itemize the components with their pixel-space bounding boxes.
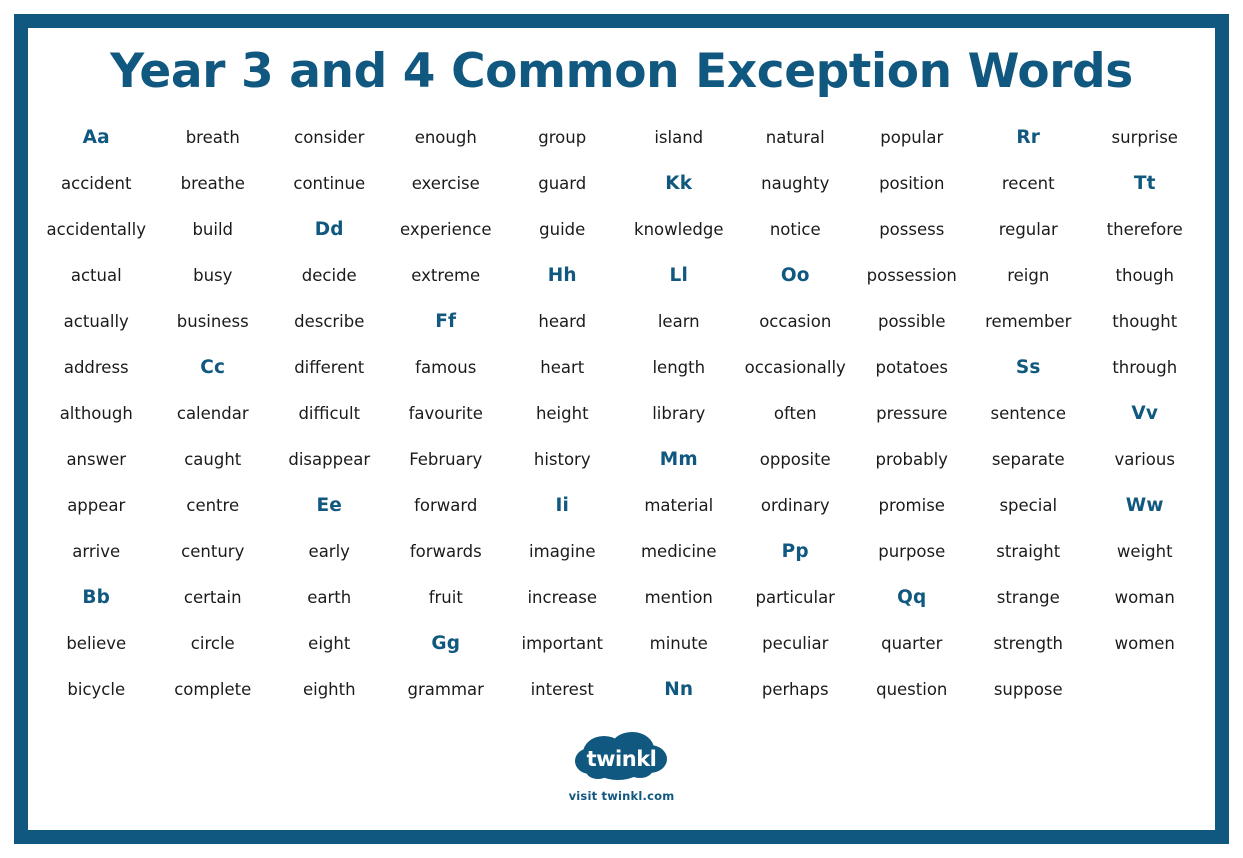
letter-heading[interactable]: Ee — [271, 483, 388, 529]
word-item[interactable]: medicine — [621, 529, 738, 575]
word-item[interactable]: describe — [271, 299, 388, 345]
letter-heading[interactable]: Pp — [737, 529, 854, 575]
word-column-5: groupguardguideHhheardheartheighthistory… — [504, 115, 621, 713]
word-item[interactable]: consider — [271, 115, 388, 161]
word-item[interactable]: straight — [970, 529, 1087, 575]
word-item[interactable]: imagine — [504, 529, 621, 575]
word-column-2: breathbreathebuildbusybusinessCccalendar… — [155, 115, 272, 713]
word-item[interactable]: various — [1087, 437, 1204, 483]
word-item[interactable]: purpose — [854, 529, 971, 575]
word-column-7: naturalnaughtynoticeOooccasionoccasional… — [737, 115, 854, 713]
word-item[interactable]: calendar — [155, 391, 272, 437]
word-item[interactable]: natural — [737, 115, 854, 161]
letter-heading[interactable]: Vv — [1087, 391, 1204, 437]
word-column-8: popularpositionpossesspossessionpossible… — [854, 115, 971, 713]
letter-heading[interactable]: Ww — [1087, 483, 1204, 529]
word-item[interactable]: breath — [155, 115, 272, 161]
word-item[interactable]: heard — [504, 299, 621, 345]
word-item[interactable]: recent — [970, 161, 1087, 207]
word-item[interactable]: possible — [854, 299, 971, 345]
word-item[interactable]: opposite — [737, 437, 854, 483]
word-item[interactable]: pressure — [854, 391, 971, 437]
word-item[interactable]: women — [1087, 621, 1204, 667]
page-title: Year 3 and 4 Common Exception Words — [30, 48, 1213, 95]
word-item[interactable]: caught — [155, 437, 272, 483]
word-item[interactable]: perhaps — [737, 667, 854, 713]
letter-heading[interactable]: Qq — [854, 575, 971, 621]
word-item[interactable]: February — [388, 437, 505, 483]
word-item[interactable]: believe — [38, 621, 155, 667]
word-item[interactable]: extreme — [388, 253, 505, 299]
word-item[interactable]: strength — [970, 621, 1087, 667]
word-item[interactable]: history — [504, 437, 621, 483]
letter-heading[interactable]: Cc — [155, 345, 272, 391]
word-item[interactable]: question — [854, 667, 971, 713]
word-item[interactable]: strange — [970, 575, 1087, 621]
word-item[interactable]: grammar — [388, 667, 505, 713]
letter-heading[interactable]: Mm — [621, 437, 738, 483]
word-column-4: enoughexerciseexperienceextremeFffamousf… — [388, 115, 505, 713]
letter-heading[interactable]: Tt — [1087, 161, 1204, 207]
letter-heading[interactable]: Nn — [621, 667, 738, 713]
letter-heading[interactable]: Aa — [38, 115, 155, 161]
word-item[interactable]: heart — [504, 345, 621, 391]
word-item[interactable]: different — [271, 345, 388, 391]
letter-heading[interactable]: Kk — [621, 161, 738, 207]
letter-heading[interactable]: Dd — [271, 207, 388, 253]
word-item[interactable]: weight — [1087, 529, 1204, 575]
word-item[interactable]: busy — [155, 253, 272, 299]
word-item[interactable]: fruit — [388, 575, 505, 621]
word-column-3: considercontinueDddecidedescribedifferen… — [271, 115, 388, 713]
word-item[interactable]: actually — [38, 299, 155, 345]
word-item[interactable]: disappear — [271, 437, 388, 483]
word-item[interactable]: early — [271, 529, 388, 575]
word-item[interactable]: possess — [854, 207, 971, 253]
word-item[interactable]: address — [38, 345, 155, 391]
word-item[interactable]: sentence — [970, 391, 1087, 437]
word-item[interactable]: appear — [38, 483, 155, 529]
word-item[interactable]: increase — [504, 575, 621, 621]
word-item[interactable]: popular — [854, 115, 971, 161]
word-item[interactable]: build — [155, 207, 272, 253]
word-item[interactable]: group — [504, 115, 621, 161]
word-item[interactable]: although — [38, 391, 155, 437]
word-item[interactable]: accident — [38, 161, 155, 207]
visit-url-text: visit twinkl.com — [569, 789, 675, 803]
word-item[interactable]: continue — [271, 161, 388, 207]
word-item[interactable]: surprise — [1087, 115, 1204, 161]
word-item[interactable]: occasion — [737, 299, 854, 345]
word-item[interactable]: certain — [155, 575, 272, 621]
word-item[interactable]: difficult — [271, 391, 388, 437]
letter-heading[interactable]: Hh — [504, 253, 621, 299]
word-item[interactable]: particular — [737, 575, 854, 621]
twinkl-logo[interactable]: twinkl — [574, 731, 670, 783]
word-item[interactable]: regular — [970, 207, 1087, 253]
word-item[interactable]: mention — [621, 575, 738, 621]
word-item[interactable]: though — [1087, 253, 1204, 299]
word-column-9: RrrecentregularreignrememberSssentencese… — [970, 115, 1087, 713]
letter-heading[interactable]: Ff — [388, 299, 505, 345]
word-item[interactable]: length — [621, 345, 738, 391]
word-item[interactable]: position — [854, 161, 971, 207]
footer: twinkl visit twinkl.com — [30, 731, 1213, 803]
word-item[interactable]: ordinary — [737, 483, 854, 529]
word-item[interactable]: potatoes — [854, 345, 971, 391]
word-item[interactable]: minute — [621, 621, 738, 667]
word-item[interactable]: century — [155, 529, 272, 575]
word-item[interactable]: important — [504, 621, 621, 667]
letter-heading[interactable]: Ii — [504, 483, 621, 529]
word-item[interactable]: material — [621, 483, 738, 529]
word-item[interactable]: notice — [737, 207, 854, 253]
word-item[interactable]: separate — [970, 437, 1087, 483]
word-item[interactable]: decide — [271, 253, 388, 299]
word-mat-poster: Year 3 and 4 Common Exception Words Aaac… — [0, 0, 1243, 858]
word-item[interactable]: famous — [388, 345, 505, 391]
word-item[interactable]: suppose — [970, 667, 1087, 713]
word-item[interactable]: answer — [38, 437, 155, 483]
word-item[interactable]: probably — [854, 437, 971, 483]
word-item[interactable]: enough — [388, 115, 505, 161]
word-column-1: Aaaccidentaccidentallyactualactuallyaddr… — [38, 115, 155, 713]
word-item[interactable]: occasionally — [737, 345, 854, 391]
word-item[interactable]: experience — [388, 207, 505, 253]
word-item[interactable]: circle — [155, 621, 272, 667]
word-item[interactable]: through — [1087, 345, 1204, 391]
word-item[interactable]: exercise — [388, 161, 505, 207]
letter-heading[interactable]: Ll — [621, 253, 738, 299]
word-item[interactable]: often — [737, 391, 854, 437]
word-item[interactable]: height — [504, 391, 621, 437]
word-column-6: islandKkknowledgeLllearnlengthlibraryMmm… — [621, 115, 738, 713]
word-item[interactable]: peculiar — [737, 621, 854, 667]
word-grid: Aaaccidentaccidentallyactualactuallyaddr… — [30, 115, 1213, 713]
word-item[interactable]: island — [621, 115, 738, 161]
word-item[interactable]: earth — [271, 575, 388, 621]
word-item[interactable]: library — [621, 391, 738, 437]
word-item[interactable]: actual — [38, 253, 155, 299]
word-column-10: surpriseTtthereforethoughthoughtthroughV… — [1087, 115, 1204, 713]
word-item[interactable]: accidentally — [38, 207, 155, 253]
letter-heading[interactable]: Ss — [970, 345, 1087, 391]
word-item[interactable]: possession — [854, 253, 971, 299]
word-item[interactable]: guide — [504, 207, 621, 253]
word-item[interactable]: special — [970, 483, 1087, 529]
word-item[interactable]: naughty — [737, 161, 854, 207]
letter-heading[interactable]: Rr — [970, 115, 1087, 161]
letter-heading[interactable]: Gg — [388, 621, 505, 667]
word-item[interactable]: eight — [271, 621, 388, 667]
empty-cell — [1087, 667, 1204, 713]
word-item[interactable]: reign — [970, 253, 1087, 299]
word-item[interactable]: arrive — [38, 529, 155, 575]
letter-heading[interactable]: Bb — [38, 575, 155, 621]
word-item[interactable]: interest — [504, 667, 621, 713]
word-item[interactable]: remember — [970, 299, 1087, 345]
word-item[interactable]: thought — [1087, 299, 1204, 345]
word-item[interactable]: promise — [854, 483, 971, 529]
word-item[interactable]: forward — [388, 483, 505, 529]
word-item[interactable]: learn — [621, 299, 738, 345]
word-item[interactable]: breathe — [155, 161, 272, 207]
letter-heading[interactable]: Oo — [737, 253, 854, 299]
word-item[interactable]: complete — [155, 667, 272, 713]
word-item[interactable]: favourite — [388, 391, 505, 437]
word-item[interactable]: business — [155, 299, 272, 345]
word-item[interactable]: guard — [504, 161, 621, 207]
word-item[interactable]: quarter — [854, 621, 971, 667]
word-item[interactable]: woman — [1087, 575, 1204, 621]
word-item[interactable]: therefore — [1087, 207, 1204, 253]
twinkl-logo-text: twinkl — [574, 731, 670, 783]
word-item[interactable]: knowledge — [621, 207, 738, 253]
poster-content: Year 3 and 4 Common Exception Words Aaac… — [30, 30, 1213, 828]
word-item[interactable]: eighth — [271, 667, 388, 713]
word-item[interactable]: bicycle — [38, 667, 155, 713]
word-item[interactable]: centre — [155, 483, 272, 529]
word-item[interactable]: forwards — [388, 529, 505, 575]
